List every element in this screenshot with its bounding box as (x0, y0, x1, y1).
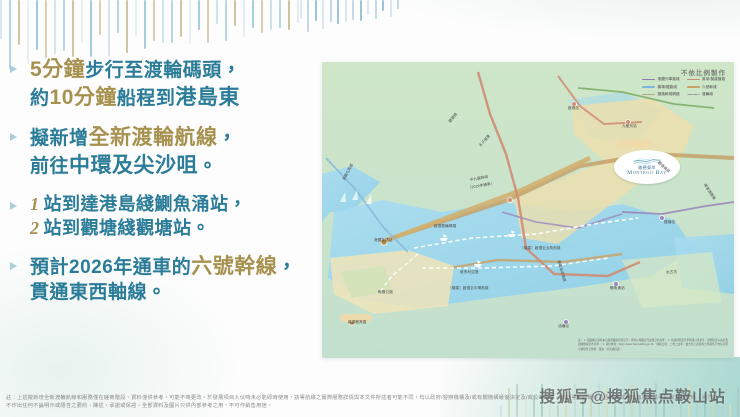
map-place-label: （擬建）啟德至北角航綫 (520, 246, 561, 251)
legend-color-swatch (687, 94, 700, 95)
legend-color-swatch (687, 79, 700, 81)
decorative-stripes-top-right (300, 0, 400, 34)
map-place-label: 鰂魚涌站 (610, 286, 625, 291)
legend-label: 道路幹綫網絡 (658, 92, 680, 97)
legend-color-swatch (642, 94, 655, 96)
copy-segment: 擬新增 (30, 128, 89, 149)
map-scale-note: 不依比例製作 (681, 67, 726, 77)
logo-english-name: Montego Bay (627, 170, 667, 177)
copy-segment: 預計2026年通車的 (30, 257, 191, 278)
map-place-label: 觀塘站 (664, 220, 675, 225)
copy-segment: ， (277, 257, 297, 278)
map-place-label: 油塘站 (558, 324, 569, 329)
copy-paragraph-mtr-stations: 1站到達港島綫鰂魚涌站，2站到觀塘綫觀塘站。 (30, 193, 330, 241)
copy-line: 2站到觀塘綫觀塘站。 (30, 217, 330, 241)
map-place-label: 維多利亞港 (460, 270, 478, 275)
legend-label: 港鐵列車路綫 (658, 77, 680, 82)
legend-item: 將來/擬建道路 (687, 77, 729, 82)
map-place-label: 九龍灣站 (622, 124, 637, 129)
copy-segment: 1 (30, 194, 44, 214)
legend-item: 道路幹綫網絡 (642, 92, 684, 97)
copy-segment: 港島東 (175, 86, 240, 109)
copy-segment: 船程到 (117, 88, 176, 109)
legend-label: 渡輪綫 (702, 92, 713, 97)
map-place-label: 港鐵啟德站 (374, 238, 392, 243)
bullet-triangle-icon (10, 202, 17, 210)
copy-segment: 10分鐘 (50, 86, 117, 109)
copy-paragraph-route-six: 預計2026年通車的六號幹線，貫通東西軸線。 (30, 253, 330, 305)
copy-line: 5分鐘步行至渡輪碼頭， (30, 56, 330, 84)
copy-segment: 5分鐘 (30, 58, 85, 81)
map-place-label: 跑道公園 (378, 290, 393, 295)
slide-canvas: 5分鐘步行至渡輪碼頭，約10分鐘船程到港島東擬新增全新渡輪航線，前往中環及尖沙咀… (0, 0, 740, 417)
copy-line: 前往中環及尖沙咀。 (30, 152, 330, 180)
copy-segment: 六號幹線 (191, 255, 277, 278)
map-place-label: （擬建）啟德至中環航綫 (448, 286, 489, 291)
map-place-label: 啟德站 (568, 106, 579, 111)
transport-map: 不依比例製作 港鐵列車路綫將來/擬建道路機場/鐵路綫六號幹綫道路幹綫網絡渡輪綫 … (322, 62, 734, 358)
legend-item: 機場/鐵路綫 (642, 85, 684, 90)
copy-segment: 站到達港島綫鰂魚涌站 (44, 194, 229, 214)
marketing-copy-block: 5分鐘步行至渡輪碼頭，約10分鐘船程到港島東擬新增全新渡輪航線，前往中環及尖沙咀… (30, 56, 330, 319)
legend-color-swatch (642, 86, 655, 88)
map-place-label: 啟德郵輪碼頭 (434, 224, 456, 229)
legend-color-swatch (642, 79, 655, 81)
legend-item: 港鐵列車路綫 (642, 77, 684, 82)
map-legend: 港鐵列車路綫將來/擬建道路機場/鐵路綫六號幹綫道路幹綫網絡渡輪綫 (642, 77, 728, 97)
copy-paragraph-new-ferry-route: 擬新增全新渡輪航線，前往中環及尖沙咀。 (30, 124, 330, 179)
copy-segment: 貫通東西軸線 (30, 282, 147, 303)
copy-line: 1站到達港島綫鰂魚涌站， (30, 193, 330, 217)
copy-segment: 約 (30, 88, 50, 109)
copy-segment: 2 (30, 218, 44, 238)
copy-paragraph-ferry-time: 5分鐘步行至渡輪碼頭，約10分鐘船程到港島東 (30, 56, 330, 111)
map-footnote: 註： 1. 港鐵綫之資料來自香港鐵路有限公司，資料以港鐵公司最後公布為準。 2.… (578, 339, 728, 352)
copy-line: 擬新增全新渡輪航線， (30, 124, 330, 152)
source-watermark: 搜狐号@搜狐焦点鞍山站 (539, 383, 726, 407)
bullet-triangle-icon (10, 65, 17, 73)
copy-segment: 全新渡輪航線 (89, 126, 218, 149)
map-place-label: 啟德體育園 (348, 320, 366, 325)
legend-label: 將來/擬建道路 (702, 77, 725, 82)
copy-segment: ， (222, 60, 242, 81)
legend-label: 六號幹綫 (702, 85, 717, 90)
legend-item: 六號幹綫 (687, 85, 729, 90)
copy-segment: 。 (192, 218, 211, 238)
copy-line: 約10分鐘船程到港島東 (30, 84, 330, 112)
montego-bay-logo-marker: 啟德東岸 Montego Bay (614, 150, 680, 184)
bullet-triangle-icon (10, 262, 17, 270)
copy-segment: 前往 (30, 156, 69, 177)
legend-color-swatch (687, 86, 700, 88)
map-place-label: 太古坊 (666, 270, 677, 275)
copy-segment: ， (229, 194, 248, 214)
legend-label: 機場/鐵路綫 (658, 85, 678, 90)
copy-segment: 站到觀塘綫觀塘站 (44, 218, 192, 238)
legend-item: 渡輪綫 (687, 92, 729, 97)
bullet-triangle-icon (10, 133, 17, 141)
copy-segment: ， (218, 128, 238, 149)
copy-segment: 中環及尖沙咀 (69, 154, 198, 177)
copy-line: 預計2026年通車的六號幹線， (30, 253, 330, 281)
map-graphic (322, 62, 734, 358)
copy-segment: 步行至渡輪碼頭 (85, 60, 222, 81)
copy-segment: 。 (147, 282, 167, 303)
copy-line: 貫通東西軸線。 (30, 281, 330, 306)
copy-segment: 。 (198, 156, 218, 177)
